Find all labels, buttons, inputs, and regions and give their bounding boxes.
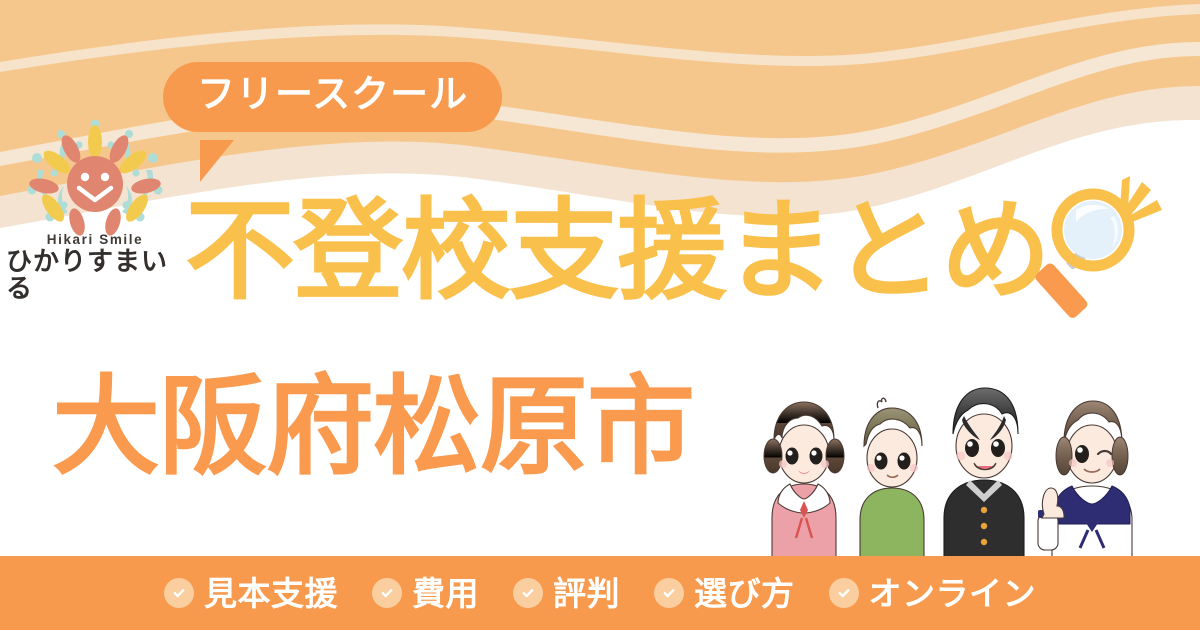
headline-line-2: 大阪府松原市 (52, 372, 694, 482)
magnifier-lens (1057, 194, 1129, 266)
sun-smile-mark (20, 118, 170, 236)
student-girl-pigtails (764, 402, 844, 558)
check-circle-icon (372, 578, 402, 608)
tag-item[interactable]: オンライン (829, 577, 1037, 610)
magnifying-glass-icon (1024, 162, 1194, 337)
tag-label: 見本支援 (204, 577, 338, 610)
logo-japanese-text: ひかりすまいる (6, 248, 184, 303)
student-girl-sailor (1038, 401, 1132, 558)
tag-label: オンライン (869, 577, 1037, 610)
headline-line-1: 不登校支援まとめ (185, 196, 1049, 308)
check-circle-icon (513, 578, 543, 608)
four-students-illustration (752, 368, 1200, 558)
tag-item[interactable]: 費用 (372, 577, 479, 610)
check-circle-icon (829, 578, 859, 608)
banner-root: Hikari Smile ひかりすまいる フリースクール 不登校支援まとめ 大阪… (0, 0, 1200, 630)
student-boy-gakuran (944, 388, 1024, 558)
category-badge[interactable]: フリースクール (163, 62, 502, 132)
tag-item[interactable]: 評判 (513, 577, 620, 610)
check-circle-icon (164, 578, 194, 608)
tag-item[interactable]: 選び方 (654, 577, 795, 610)
check-circle-icon (654, 578, 684, 608)
wave-cream-stripe-upper (0, 4, 1200, 72)
category-badge-label: フリースクール (197, 76, 468, 116)
speech-bubble-tail (200, 140, 234, 182)
tag-item[interactable]: 見本支援 (164, 577, 338, 610)
student-boy-green (860, 398, 924, 558)
tag-label: 評判 (553, 577, 620, 610)
tag-label: 費用 (412, 577, 479, 610)
tag-label: 選び方 (694, 577, 795, 610)
feature-tag-bar: 見本支援 費用 評判 選び方 オンライン (0, 556, 1200, 630)
site-logo[interactable]: Hikari Smile ひかりすまいる (6, 118, 184, 293)
logo-face (67, 156, 123, 212)
